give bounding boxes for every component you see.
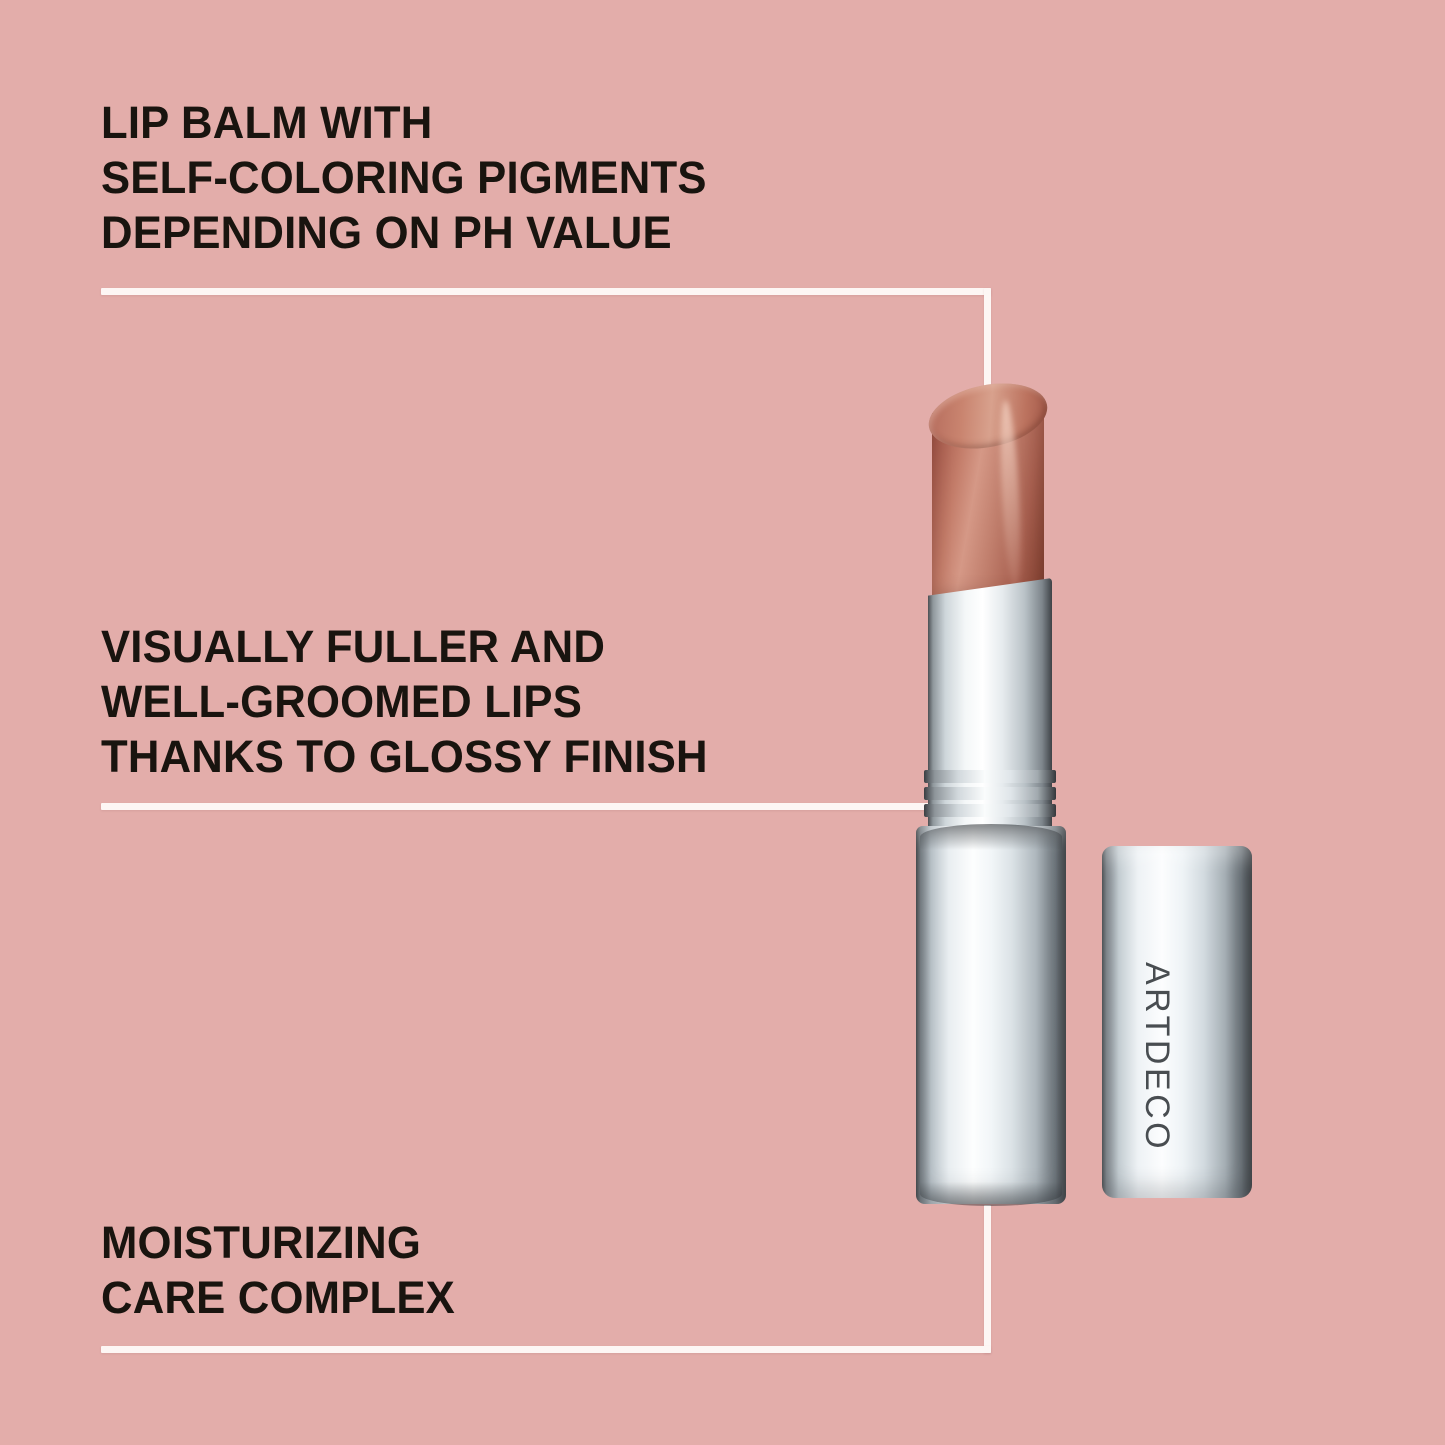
lipstick-bullet bbox=[932, 392, 1044, 604]
brand-logo-text: ARTDECO bbox=[1137, 962, 1176, 1194]
lipstick-chrome-sleeve bbox=[928, 578, 1052, 830]
callout-1-leader-line-horizontal bbox=[101, 288, 991, 295]
lipstick-mechanism-ring-1 bbox=[924, 770, 1056, 783]
callout-text-pigments: LIP BALM WITH SELF-COLORING PIGMENTS DEP… bbox=[101, 96, 707, 261]
callout-3-leader-line-horizontal bbox=[101, 1346, 991, 1353]
lipstick-cap bbox=[1102, 846, 1252, 1198]
lipstick-bullet-highlight bbox=[997, 400, 1024, 591]
callout-1-leader-line-vertical bbox=[984, 288, 991, 410]
callout-2-leader-line-horizontal bbox=[101, 803, 946, 810]
callout-text-moisturizing: MOISTURIZING CARE COMPLEX bbox=[101, 1216, 455, 1326]
lipstick-tube-base bbox=[916, 826, 1066, 1204]
lipstick-base-top-shading bbox=[920, 824, 1062, 850]
callout-text-glossy-finish: VISUALLY FULLER AND WELL-GROOMED LIPS TH… bbox=[101, 620, 708, 785]
lipstick-base-bottom-shading bbox=[920, 1182, 1062, 1206]
product-feature-graphic: ARTDECO LIP BALM WITH SELF-COLORING PIGM… bbox=[0, 0, 1445, 1445]
lipstick-mechanism-ring-2 bbox=[924, 787, 1056, 800]
callout-3-leader-line-vertical bbox=[984, 1205, 991, 1353]
